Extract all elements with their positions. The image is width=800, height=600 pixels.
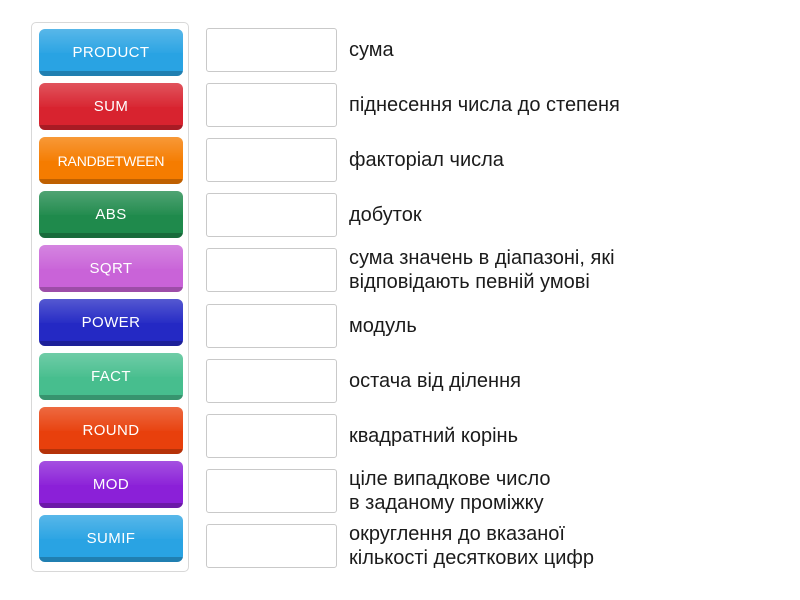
definition-label: факторіал числа: [349, 148, 791, 172]
tile-label: SQRT: [90, 261, 133, 276]
tile-label: MOD: [93, 477, 129, 492]
definition-label: добуток: [349, 203, 791, 227]
tile-product[interactable]: PRODUCT: [39, 29, 183, 76]
answer-dropzone[interactable]: [206, 414, 337, 458]
tile-label: RANDBETWEEN: [58, 154, 165, 168]
tile-sum[interactable]: SUM: [39, 83, 183, 130]
tile-label: ABS: [95, 207, 126, 222]
answer-dropzone[interactable]: [206, 469, 337, 513]
tile-round[interactable]: ROUND: [39, 407, 183, 454]
answer-dropzone[interactable]: [206, 193, 337, 237]
match-row: остача від ділення: [206, 353, 791, 408]
definition-label: сума: [349, 38, 791, 62]
match-row: піднесення числа до степеня: [206, 77, 791, 132]
match-row: модуль: [206, 298, 791, 353]
tile-label: ROUND: [83, 423, 140, 438]
definition-label: ціле випадкове число в заданому проміжку: [349, 467, 791, 515]
answer-dropzone[interactable]: [206, 524, 337, 568]
answer-dropzone[interactable]: [206, 359, 337, 403]
tile-mod[interactable]: MOD: [39, 461, 183, 508]
definition-label: квадратний корінь: [349, 424, 791, 448]
match-up-activity: PRODUCTSUMRANDBETWEENABSSQRTPOWERFACTROU…: [0, 0, 800, 600]
match-row: факторіал числа: [206, 132, 791, 187]
draggable-tiles-panel: PRODUCTSUMRANDBETWEENABSSQRTPOWERFACTROU…: [31, 22, 189, 572]
definition-label: округлення до вказаної кількості десятко…: [349, 522, 791, 570]
tile-randbetween[interactable]: RANDBETWEEN: [39, 137, 183, 184]
tile-sqrt[interactable]: SQRT: [39, 245, 183, 292]
tile-sumif[interactable]: SUMIF: [39, 515, 183, 562]
answer-dropzone[interactable]: [206, 138, 337, 182]
definition-label: остача від ділення: [349, 369, 791, 393]
definition-label: сума значень в діапазоні, які відповідаю…: [349, 246, 791, 294]
match-row: квадратний корінь: [206, 408, 791, 463]
matching-rows-panel: сумапіднесення числа до степеняфакторіал…: [206, 22, 791, 574]
match-row: округлення до вказаної кількості десятко…: [206, 519, 791, 574]
match-row: сума: [206, 22, 791, 77]
answer-dropzone[interactable]: [206, 28, 337, 72]
tile-label: FACT: [91, 369, 131, 384]
tile-fact[interactable]: FACT: [39, 353, 183, 400]
definition-label: модуль: [349, 314, 791, 338]
answer-dropzone[interactable]: [206, 83, 337, 127]
answer-dropzone[interactable]: [206, 304, 337, 348]
definition-label: піднесення числа до степеня: [349, 93, 791, 117]
match-row: сума значень в діапазоні, які відповідаю…: [206, 243, 791, 298]
tile-power[interactable]: POWER: [39, 299, 183, 346]
tile-label: SUM: [94, 99, 129, 114]
tile-label: SUMIF: [87, 531, 136, 546]
tile-label: POWER: [82, 315, 141, 330]
tile-label: PRODUCT: [73, 45, 150, 60]
match-row: добуток: [206, 188, 791, 243]
answer-dropzone[interactable]: [206, 248, 337, 292]
tile-abs[interactable]: ABS: [39, 191, 183, 238]
match-row: ціле випадкове число в заданому проміжку: [206, 464, 791, 519]
